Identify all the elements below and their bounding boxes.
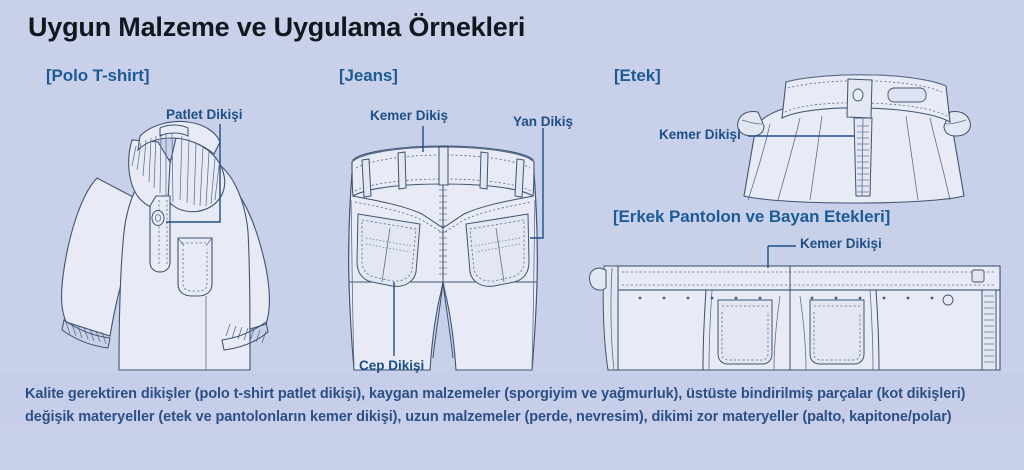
jeans-illustration: [349, 146, 538, 370]
polo-shirt-illustration: [62, 122, 270, 370]
annotation-skirt-waistband-seam: Kemer Dikişi: [659, 127, 741, 142]
trouser-leader-line: [768, 246, 796, 268]
trouser-waistband-illustration: [589, 266, 1000, 370]
annotation-trouser-waistband-seam: Kemer Dikişi: [800, 236, 882, 251]
annotation-jeans-waistband-seam: Kemer Dikiş: [370, 108, 448, 123]
caption-text: Kalite gerektiren dikişler (polo t-shirt…: [25, 383, 1005, 428]
diagram-page: Uygun Malzeme ve Uygulama Örnekleri [Pol…: [0, 0, 1024, 470]
annotation-jeans-side-seam: Yan Dikiş: [513, 114, 573, 129]
skirt-illustration: [738, 75, 971, 203]
annotation-jeans-pocket-seam: Cep Dikişi: [359, 358, 424, 373]
annotation-placket-seam: Patlet Dikişi: [166, 107, 243, 122]
